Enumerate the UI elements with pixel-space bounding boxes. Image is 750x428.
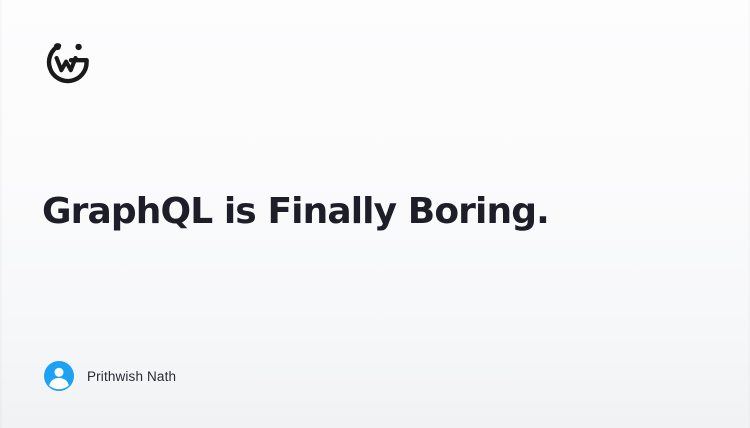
left-edge-shading xyxy=(0,0,3,428)
author-name: Prithwish Nath xyxy=(87,368,176,385)
brand-logo[interactable] xyxy=(44,34,92,86)
avatar[interactable] xyxy=(44,361,74,391)
author-byline: Prithwish Nath xyxy=(44,361,176,391)
user-avatar-icon xyxy=(44,361,74,391)
page-title: GraphQL is Finally Boring. xyxy=(42,190,549,234)
article-cover: GraphQL is Finally Boring. Prithwish Nat… xyxy=(0,0,750,428)
wandb-circle-w-logo-icon xyxy=(44,34,92,86)
